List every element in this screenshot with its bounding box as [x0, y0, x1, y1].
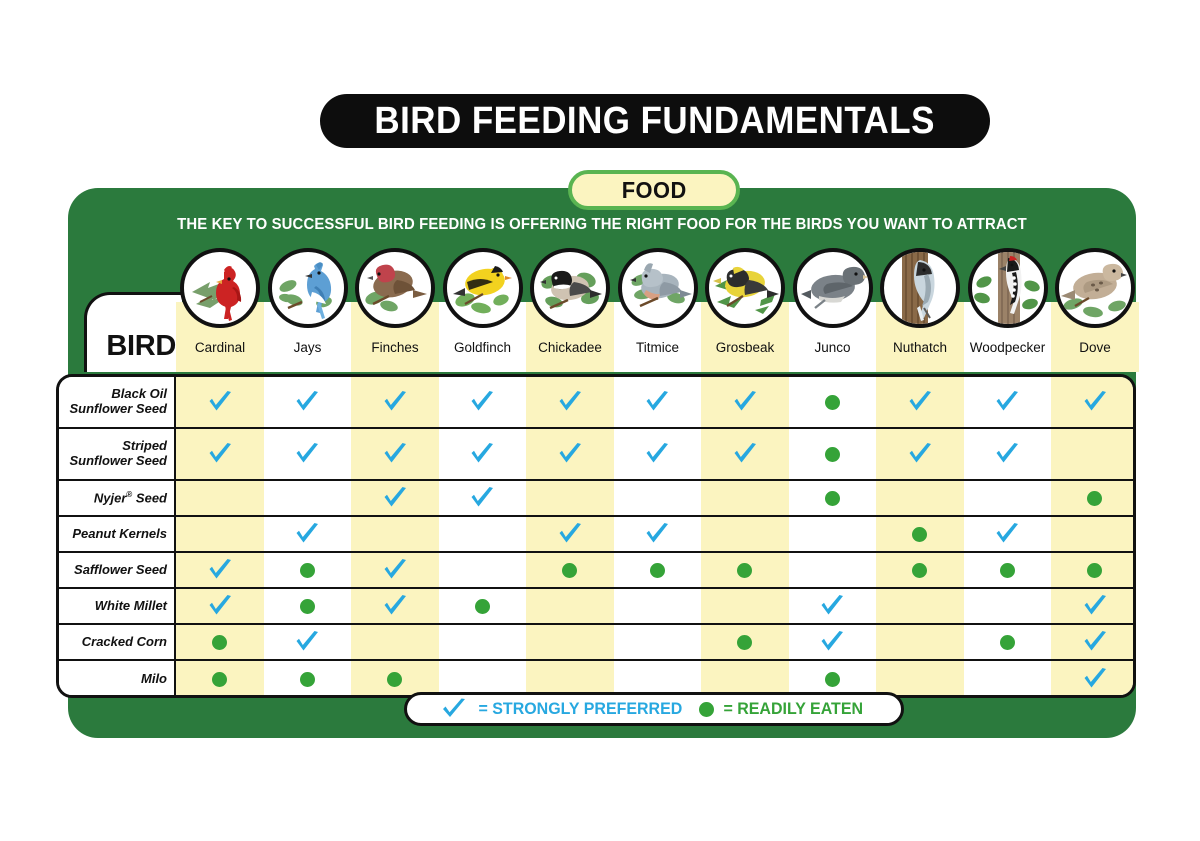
- check-icon: [994, 523, 1020, 545]
- table-cell: [964, 553, 1052, 587]
- table-cell: [351, 429, 439, 479]
- table-cell: [701, 377, 789, 427]
- food-row-label-text: Safflower Seed: [74, 563, 167, 578]
- check-icon: [907, 391, 933, 413]
- check-icon: [382, 559, 408, 581]
- table-row-cells: [176, 481, 1136, 515]
- dot-icon: [562, 563, 577, 578]
- table-cell: [1051, 625, 1136, 659]
- table-cell: [439, 377, 527, 427]
- table-cell: [439, 481, 527, 515]
- bird-column-name: Cardinal: [172, 340, 268, 355]
- table-cell: [264, 481, 352, 515]
- table-cell: [789, 517, 877, 551]
- table-cell: [964, 625, 1052, 659]
- table-cell: [701, 625, 789, 659]
- table-cell: [264, 377, 352, 427]
- check-icon: [294, 523, 320, 545]
- table-cell: [439, 429, 527, 479]
- title-banner: BIRD FEEDING FUNDAMENTALS: [320, 94, 990, 148]
- check-icon: [441, 698, 467, 720]
- check-icon: [732, 391, 758, 413]
- check-icon: [207, 595, 233, 617]
- table-cell: [876, 625, 964, 659]
- table-cell: [1051, 661, 1136, 697]
- table-cell: [439, 589, 527, 623]
- table-cell: [176, 481, 264, 515]
- table-cell: [964, 589, 1052, 623]
- legend-item-readily-eaten: = READILY EATEN: [699, 699, 867, 719]
- check-icon: [294, 443, 320, 465]
- woodpecker-bird-icon: [968, 248, 1048, 328]
- table-row-cells: [176, 429, 1136, 479]
- table-cell: [614, 553, 702, 587]
- table-row: White Millet: [59, 589, 1136, 625]
- dot-icon: [300, 563, 315, 578]
- check-icon: [557, 443, 583, 465]
- dot-icon: [300, 599, 315, 614]
- table-cell: [789, 377, 877, 427]
- check-icon: [207, 391, 233, 413]
- bird-column-header: Finches: [351, 246, 439, 372]
- table-cell: [526, 517, 614, 551]
- table-row-cells: [176, 553, 1136, 587]
- food-row-label: StripedSunflower Seed: [59, 429, 176, 479]
- table-cell: [701, 481, 789, 515]
- check-icon: [469, 487, 495, 509]
- check-icon: [294, 631, 320, 653]
- table-cell: [1051, 429, 1136, 479]
- food-row-label: Nyjer® Seed: [59, 481, 176, 515]
- dot-icon: [650, 563, 665, 578]
- table-cell: [526, 377, 614, 427]
- table-cell: [964, 377, 1052, 427]
- bird-column-header: Cardinal: [176, 246, 264, 372]
- table-row: Nyjer® Seed: [59, 481, 1136, 517]
- table-cell: [526, 481, 614, 515]
- dot-icon: [699, 702, 714, 717]
- check-icon: [382, 487, 408, 509]
- table-cell: [351, 481, 439, 515]
- check-icon: [207, 559, 233, 581]
- table-cell: [351, 625, 439, 659]
- legend-item-strongly-preferred: = STRONGLY PREFERRED: [441, 698, 689, 720]
- check-icon: [994, 391, 1020, 413]
- table-cell: [264, 429, 352, 479]
- junco-bird-icon: [793, 248, 873, 328]
- legend-check-label: = STRONGLY PREFERRED: [478, 699, 682, 719]
- table-cell: [1051, 517, 1136, 551]
- table-row: Peanut Kernels: [59, 517, 1136, 553]
- table-row: Cracked Corn: [59, 625, 1136, 661]
- bird-column-header: Titmice: [614, 246, 702, 372]
- legend-dot-label: = READILY EATEN: [723, 699, 863, 719]
- table-cell: [176, 553, 264, 587]
- check-icon: [1082, 631, 1108, 653]
- bird-column-name: Goldfinch: [435, 340, 531, 355]
- dot-icon: [912, 527, 927, 542]
- check-icon: [207, 443, 233, 465]
- table-cell: [964, 429, 1052, 479]
- table-cell: [526, 589, 614, 623]
- table-cell: [439, 625, 527, 659]
- page-title: BIRD FEEDING FUNDAMENTALS: [375, 100, 935, 143]
- dot-icon: [1000, 563, 1015, 578]
- check-icon: [294, 391, 320, 413]
- table-cell: [176, 661, 264, 697]
- goldfinch-bird-icon: [443, 248, 523, 328]
- table-cell: [1051, 589, 1136, 623]
- food-section-pill: FOOD: [568, 170, 740, 210]
- section-subtitle: THE KEY TO SUCCESSFUL BIRD FEEDING IS OF…: [89, 216, 1114, 234]
- dot-icon: [825, 491, 840, 506]
- table-cell: [439, 553, 527, 587]
- table-cell: [264, 517, 352, 551]
- food-row-label-text: Black OilSunflower Seed: [69, 387, 167, 416]
- table-cell: [789, 589, 877, 623]
- titmouse-bird-icon: [618, 248, 698, 328]
- table-cell: [701, 589, 789, 623]
- table-cell: [526, 553, 614, 587]
- dot-icon: [912, 563, 927, 578]
- table-cell: [176, 429, 264, 479]
- table-cell: [351, 589, 439, 623]
- table-cell: [439, 517, 527, 551]
- table-cell: [1051, 553, 1136, 587]
- grosbeak-bird-icon: [705, 248, 785, 328]
- nuthatch-bird-icon: [880, 248, 960, 328]
- blue-jay-bird-icon: [268, 248, 348, 328]
- table-cell: [701, 429, 789, 479]
- bird-column-headers: Cardinal Jays Finch: [176, 246, 1136, 372]
- table-cell: [964, 481, 1052, 515]
- cardinal-bird-icon: [180, 248, 260, 328]
- table-cell: [876, 517, 964, 551]
- dot-icon: [1087, 563, 1102, 578]
- dot-icon: [212, 635, 227, 650]
- table-cell: [876, 589, 964, 623]
- bird-column-name: Titmice: [610, 340, 706, 355]
- bird-column-header: Junco: [789, 246, 877, 372]
- table-cell: [264, 661, 352, 697]
- food-preference-table: Black OilSunflower SeedStripedSunflower …: [56, 374, 1136, 698]
- table-row-cells: [176, 625, 1136, 659]
- food-row-label-text: Milo: [141, 672, 167, 687]
- table-cell: [614, 517, 702, 551]
- legend: = STRONGLY PREFERRED = READILY EATEN: [404, 692, 904, 726]
- bird-column-name: Woodpecker: [960, 340, 1056, 355]
- bird-column-name: Grosbeak: [697, 340, 793, 355]
- table-row-cells: [176, 377, 1136, 427]
- check-icon: [644, 391, 670, 413]
- table-cell: [789, 625, 877, 659]
- bird-column-name: Finches: [347, 340, 443, 355]
- check-icon: [557, 523, 583, 545]
- food-section-pill-label: FOOD: [621, 177, 686, 204]
- dot-icon: [825, 672, 840, 687]
- check-icon: [907, 443, 933, 465]
- food-row-label-text: Peanut Kernels: [72, 527, 167, 542]
- table-cell: [176, 517, 264, 551]
- table-cell: [876, 429, 964, 479]
- check-icon: [644, 523, 670, 545]
- chickadee-bird-icon: [530, 248, 610, 328]
- bird-column-header: Nuthatch: [876, 246, 964, 372]
- dot-icon: [737, 635, 752, 650]
- table-cell: [876, 481, 964, 515]
- check-icon: [557, 391, 583, 413]
- dot-icon: [300, 672, 315, 687]
- bird-column-name: Nuthatch: [872, 340, 968, 355]
- table-cell: [176, 625, 264, 659]
- food-row-label: Cracked Corn: [59, 625, 176, 659]
- table-cell: [876, 553, 964, 587]
- bird-column-header: Dove: [1051, 246, 1139, 372]
- check-icon: [819, 595, 845, 617]
- check-icon: [1082, 668, 1108, 690]
- table-cell: [176, 589, 264, 623]
- table-cell: [964, 517, 1052, 551]
- check-icon: [819, 631, 845, 653]
- dot-icon: [475, 599, 490, 614]
- mourning-dove-bird-icon: [1055, 248, 1135, 328]
- table-cell: [526, 429, 614, 479]
- table-row: StripedSunflower Seed: [59, 429, 1136, 481]
- bird-column-header: Chickadee: [526, 246, 614, 372]
- table-cell: [351, 553, 439, 587]
- table-cell: [789, 553, 877, 587]
- food-row-label: Milo: [59, 661, 176, 697]
- check-icon: [382, 595, 408, 617]
- check-icon: [1082, 595, 1108, 617]
- table-cell: [614, 625, 702, 659]
- bird-column-header: Grosbeak: [701, 246, 789, 372]
- table-row-cells: [176, 517, 1136, 551]
- dot-icon: [737, 563, 752, 578]
- bird-column-header: Goldfinch: [439, 246, 527, 372]
- check-icon: [1082, 391, 1108, 413]
- dot-icon: [825, 447, 840, 462]
- table-cell: [351, 377, 439, 427]
- food-row-label: White Millet: [59, 589, 176, 623]
- table-cell: [526, 625, 614, 659]
- food-row-label-text: White Millet: [95, 599, 167, 614]
- check-icon: [994, 443, 1020, 465]
- dot-icon: [387, 672, 402, 687]
- bird-corner-label: BIRD: [84, 330, 176, 363]
- food-row-label: Safflower Seed: [59, 553, 176, 587]
- table-cell: [789, 429, 877, 479]
- bird-column-name: Jays: [260, 340, 356, 355]
- table-cell: [264, 553, 352, 587]
- bird-column-header: Woodpecker: [964, 246, 1052, 372]
- check-icon: [732, 443, 758, 465]
- table-cell: [1051, 377, 1136, 427]
- check-icon: [382, 443, 408, 465]
- dot-icon: [1087, 491, 1102, 506]
- food-row-label: Black OilSunflower Seed: [59, 377, 176, 427]
- food-row-label-text: StripedSunflower Seed: [69, 439, 167, 468]
- table-cell: [789, 481, 877, 515]
- table-cell: [614, 481, 702, 515]
- table-outline: Black OilSunflower SeedStripedSunflower …: [56, 374, 1136, 698]
- check-icon: [644, 443, 670, 465]
- table-cell: [701, 517, 789, 551]
- food-row-label-text: Cracked Corn: [82, 635, 167, 650]
- table-row: Safflower Seed: [59, 553, 1136, 589]
- food-row-label-text: Nyjer® Seed: [94, 491, 167, 506]
- table-cell: [264, 625, 352, 659]
- bird-column-name: Chickadee: [522, 340, 618, 355]
- table-row: Black OilSunflower Seed: [59, 377, 1136, 429]
- check-icon: [382, 391, 408, 413]
- dot-icon: [825, 395, 840, 410]
- table-cell: [1051, 481, 1136, 515]
- dot-icon: [1000, 635, 1015, 650]
- bird-column-name: Dove: [1047, 340, 1143, 355]
- bird-column-header: Jays: [264, 246, 352, 372]
- table-cell: [614, 377, 702, 427]
- bird-column-name: Junco: [785, 340, 881, 355]
- check-icon: [469, 391, 495, 413]
- dot-icon: [212, 672, 227, 687]
- table-cell: [964, 661, 1052, 697]
- table-cell: [176, 377, 264, 427]
- table-cell: [876, 377, 964, 427]
- table-cell: [614, 589, 702, 623]
- table-cell: [701, 553, 789, 587]
- house-finch-bird-icon: [355, 248, 435, 328]
- check-icon: [469, 443, 495, 465]
- table-cell: [614, 429, 702, 479]
- food-row-label: Peanut Kernels: [59, 517, 176, 551]
- table-cell: [264, 589, 352, 623]
- table-cell: [351, 517, 439, 551]
- table-row-cells: [176, 589, 1136, 623]
